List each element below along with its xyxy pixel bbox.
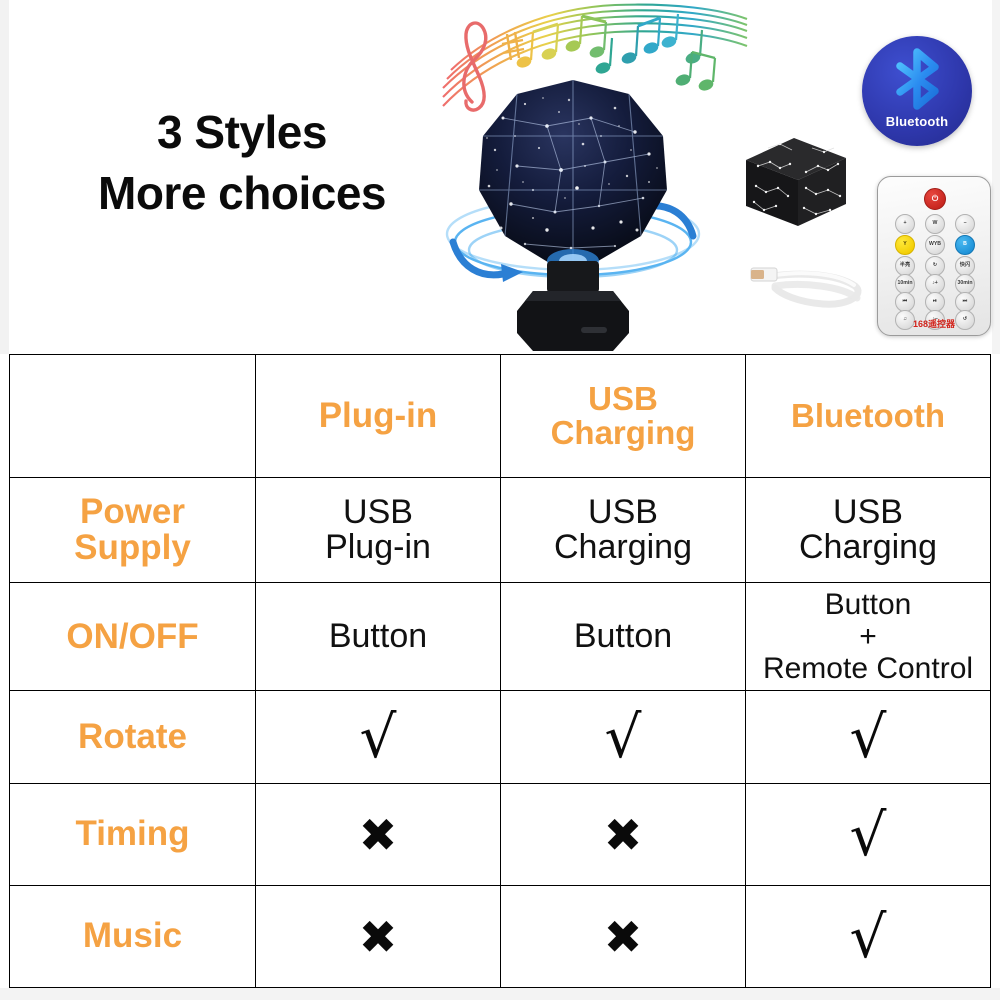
- cell-power-usb-charging-line1: USB: [503, 495, 743, 530]
- projector-dodecahedron: [473, 78, 673, 276]
- cross-icon: ✖: [604, 914, 643, 960]
- remote-button-y: Y: [895, 235, 915, 255]
- cell-power-bluetooth-line1: USB: [748, 495, 988, 530]
- table-row-power-supply: Power Supply USB Plug-in USB Charging US…: [10, 478, 991, 583]
- cell-timing-bluetooth: √: [746, 784, 991, 886]
- cell-onoff-usb-charging: Button: [501, 583, 746, 691]
- remote-button-w: W: [925, 214, 945, 234]
- cell-power-bluetooth: USB Charging: [746, 478, 991, 583]
- cell-onoff-bluetooth-line2: +: [748, 621, 988, 653]
- row-label-rotate: Rotate: [10, 691, 256, 784]
- remote-button-timer-30: 30min: [955, 274, 975, 294]
- bluetooth-badge-label: Bluetooth: [862, 114, 972, 129]
- remote-button-rotate: ↻: [925, 256, 945, 276]
- cell-music-bluetooth: √: [746, 886, 991, 988]
- row-label-power-supply-line2: Supply: [12, 530, 253, 566]
- remote-button-prev: ⏮: [895, 292, 915, 312]
- cell-onoff-plug-in: Button: [256, 583, 501, 691]
- product-hero-banner: 3 Styles More choices: [0, 0, 1000, 354]
- remote-model-label: 168遥控器: [877, 317, 991, 330]
- remote-button-next: ⏭: [955, 292, 975, 312]
- check-icon: √: [360, 708, 397, 766]
- cell-onoff-bluetooth: Button + Remote Control: [746, 583, 991, 691]
- remote-power-button: ⏻: [924, 188, 946, 210]
- row-label-on-off-text: ON/OFF: [66, 617, 198, 656]
- header-cell-usb-charging: USB Charging: [501, 355, 746, 478]
- cell-timing-usb-charging: ✖: [501, 784, 746, 886]
- page-title: 3 Styles More choices: [52, 102, 432, 224]
- check-icon: √: [850, 806, 887, 864]
- cross-icon: ✖: [359, 914, 398, 960]
- cell-onoff-plug-in-text: Button: [329, 617, 427, 655]
- cell-rotate-plug-in: √: [256, 691, 501, 784]
- usb-cable-product-image: [745, 248, 870, 323]
- cell-power-bluetooth-line2: Charging: [748, 530, 988, 565]
- header-label-plug-in: Plug-in: [319, 396, 438, 435]
- row-label-rotate-text: Rotate: [78, 717, 187, 756]
- table-row-music: Music ✖ ✖ √: [10, 886, 991, 988]
- table-header-row: Plug-in USB Charging Bluetooth: [10, 355, 991, 478]
- header-label-bluetooth: Bluetooth: [791, 397, 945, 434]
- header-label-usb-charging-line2: Charging: [503, 416, 743, 450]
- cross-icon: ✖: [359, 812, 398, 858]
- right-edge-band: [992, 0, 1000, 354]
- bluetooth-icon: [886, 48, 948, 110]
- cell-onoff-bluetooth-line3: Remote Control: [748, 653, 988, 685]
- cross-icon: ✖: [604, 812, 643, 858]
- header-label-usb-charging-line1: USB: [503, 382, 743, 416]
- headline-line-2: More choices: [52, 163, 432, 224]
- cell-onoff-usb-charging-text: Button: [574, 617, 672, 655]
- row-label-timing: Timing: [10, 784, 256, 886]
- header-cell-plug-in: Plug-in: [256, 355, 501, 478]
- bottom-edge-band: [0, 988, 1000, 1000]
- projector-base: [517, 261, 629, 353]
- bluetooth-badge: Bluetooth: [862, 36, 972, 146]
- cell-power-plug-in: USB Plug-in: [256, 478, 501, 583]
- cell-power-usb-charging: USB Charging: [501, 478, 746, 583]
- cell-rotate-bluetooth: √: [746, 691, 991, 784]
- remote-button-b: B: [955, 235, 975, 255]
- check-icon: √: [605, 708, 642, 766]
- gift-box-product-image: [736, 126, 854, 236]
- product-comparison-table: Plug-in USB Charging Bluetooth Power Sup…: [9, 354, 991, 988]
- check-icon: √: [850, 908, 887, 966]
- star-projector-product-image: [443, 78, 703, 356]
- remote-button-plus: +: [895, 214, 915, 234]
- remote-button-timer-10: 10min: [895, 274, 915, 294]
- row-label-music: Music: [10, 886, 256, 988]
- headline-line-1: 3 Styles: [52, 102, 432, 163]
- header-cell-bluetooth: Bluetooth: [746, 355, 991, 478]
- remote-button-wyb: WYB: [925, 235, 945, 255]
- check-icon: √: [850, 708, 887, 766]
- remote-control-product-image: ⏻ + W − Y WYB B 半亮 ↻ 快闪 10min ♪+ 30min ⏮…: [877, 176, 991, 336]
- remote-button-dim: 半亮: [895, 256, 915, 276]
- row-label-power-supply-line1: Power: [12, 494, 253, 530]
- remote-button-play: ⏯: [925, 292, 945, 312]
- remote-button-vol-up: ♪+: [925, 274, 945, 294]
- cell-rotate-usb-charging: √: [501, 691, 746, 784]
- row-label-timing-text: Timing: [75, 814, 189, 853]
- left-edge-band: [0, 0, 9, 354]
- table-row-on-off: ON/OFF Button Button Button + Remote Con…: [10, 583, 991, 691]
- remote-button-flash: 快闪: [955, 256, 975, 276]
- row-label-power-supply: Power Supply: [10, 478, 256, 583]
- row-label-on-off: ON/OFF: [10, 583, 256, 691]
- cell-power-usb-charging-line2: Charging: [503, 530, 743, 565]
- table-row-timing: Timing ✖ ✖ √: [10, 784, 991, 886]
- cell-power-plug-in-line1: USB: [258, 495, 498, 530]
- cell-music-plug-in: ✖: [256, 886, 501, 988]
- remote-button-minus: −: [955, 214, 975, 234]
- header-label-usb-charging: USB Charging: [503, 382, 743, 449]
- cell-timing-plug-in: ✖: [256, 784, 501, 886]
- table-row-rotate: Rotate √ √ √: [10, 691, 991, 784]
- cell-music-usb-charging: ✖: [501, 886, 746, 988]
- cell-power-plug-in-line2: Plug-in: [258, 530, 498, 565]
- cell-onoff-bluetooth-line1: Button: [748, 589, 988, 621]
- row-label-music-text: Music: [83, 916, 182, 955]
- header-cell-empty: [10, 355, 256, 478]
